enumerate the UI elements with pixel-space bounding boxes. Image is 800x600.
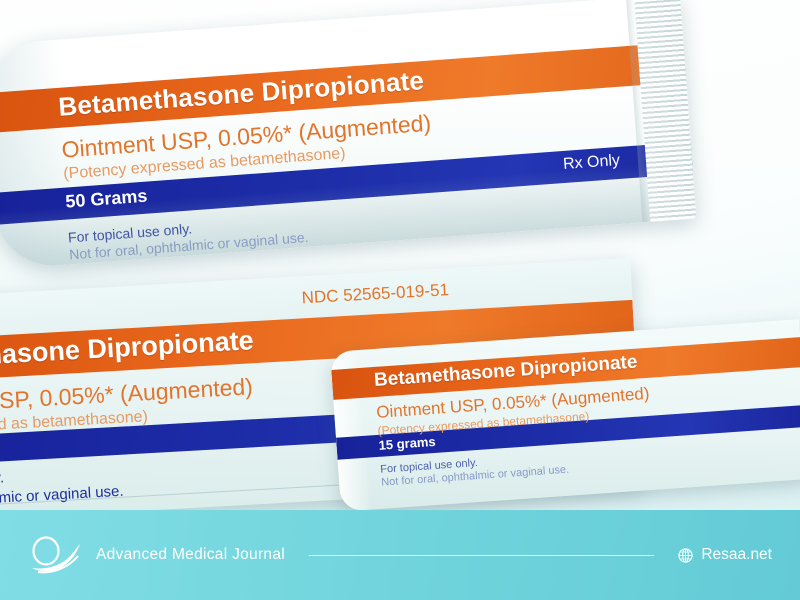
footer-site-link[interactable]: Resaa.net bbox=[678, 546, 772, 564]
footer-brand-label: Advanced Medical Journal bbox=[96, 546, 285, 564]
product-photo-scene: Betamethasone Dipropionate Ointment USP,… bbox=[0, 0, 800, 600]
topical-use-note: al use only. bbox=[0, 469, 5, 490]
wave-swoosh-logo-icon bbox=[28, 534, 86, 576]
product-carton-15g: Betamethasone Dipropionate Ointment USP,… bbox=[330, 319, 800, 511]
product-tube-50g: Betamethasone Dipropionate Ointment USP,… bbox=[0, 0, 696, 270]
footer-divider bbox=[309, 555, 654, 556]
footer-site-label: Resaa.net bbox=[701, 546, 772, 564]
footer-banner: Advanced Medical Journal Resaa.net bbox=[0, 510, 800, 600]
globe-icon bbox=[678, 548, 693, 563]
